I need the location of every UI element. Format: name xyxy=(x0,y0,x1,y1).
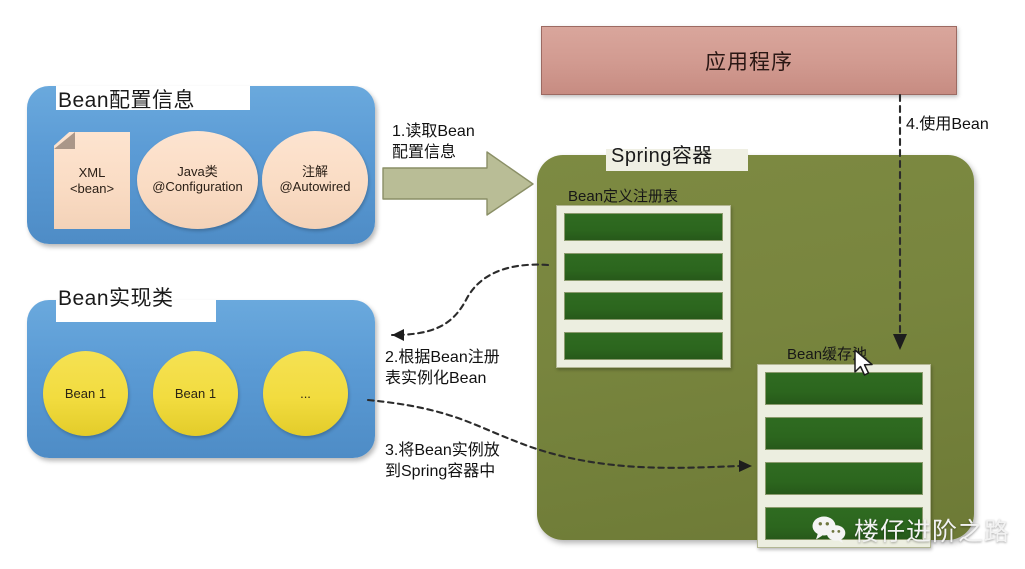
annotation-config-ellipse: 注解 @Autowired xyxy=(262,131,368,229)
cache-row xyxy=(765,417,923,450)
java-config-ellipse: Java类 @Configuration xyxy=(137,131,258,229)
bean-instance-2: Bean 1 xyxy=(153,351,238,436)
xml-config-document: XML <bean> xyxy=(54,132,130,229)
bean-definition-registry xyxy=(556,205,731,368)
bean-impl-title: Bean实现类 xyxy=(58,282,174,312)
step2-dashed-arrow xyxy=(392,265,548,341)
registry-row xyxy=(564,253,723,281)
spring-container-title: Spring容器 xyxy=(611,139,713,168)
registry-row xyxy=(564,292,723,320)
xml-doc-text: XML <bean> xyxy=(70,165,114,196)
bean-instance-more-label: ... xyxy=(300,386,311,401)
java-config-text: Java类 @Configuration xyxy=(152,165,243,195)
step-2-label: 2.根据Bean注册 表实例化Bean xyxy=(385,347,500,389)
application-title: 应用程序 xyxy=(705,46,793,76)
registry-row xyxy=(564,332,723,360)
bean-instance-1: Bean 1 xyxy=(43,351,128,436)
registry-row xyxy=(564,213,723,241)
step-1-label: 1.读取Bean 配置信息 xyxy=(392,121,475,163)
watermark-text: 楼仔进阶之路 xyxy=(854,512,1010,548)
bean-config-title: Bean配置信息 xyxy=(58,84,195,114)
cache-row xyxy=(765,372,923,405)
application-panel: 应用程序 xyxy=(541,26,957,95)
bean-instance-1-label: Bean 1 xyxy=(65,386,106,401)
step-3-label: 3.将Bean实例放 到Spring容器中 xyxy=(385,440,500,482)
wechat-icon xyxy=(812,516,846,544)
cache-row xyxy=(765,462,923,495)
registry-label: Bean定义注册表 xyxy=(568,185,678,206)
bean-instance-2-label: Bean 1 xyxy=(175,386,216,401)
step-4-label: 4.使用Bean xyxy=(906,114,989,135)
cache-pool-label: Bean缓存池 xyxy=(787,343,867,364)
bean-instance-more: ... xyxy=(263,351,348,436)
annotation-config-text: 注解 @Autowired xyxy=(279,165,350,195)
diagram-canvas: Bean配置信息 XML <bean> Java类 @Configuration… xyxy=(0,0,1025,569)
watermark: 楼仔进阶之路 xyxy=(812,512,1010,548)
